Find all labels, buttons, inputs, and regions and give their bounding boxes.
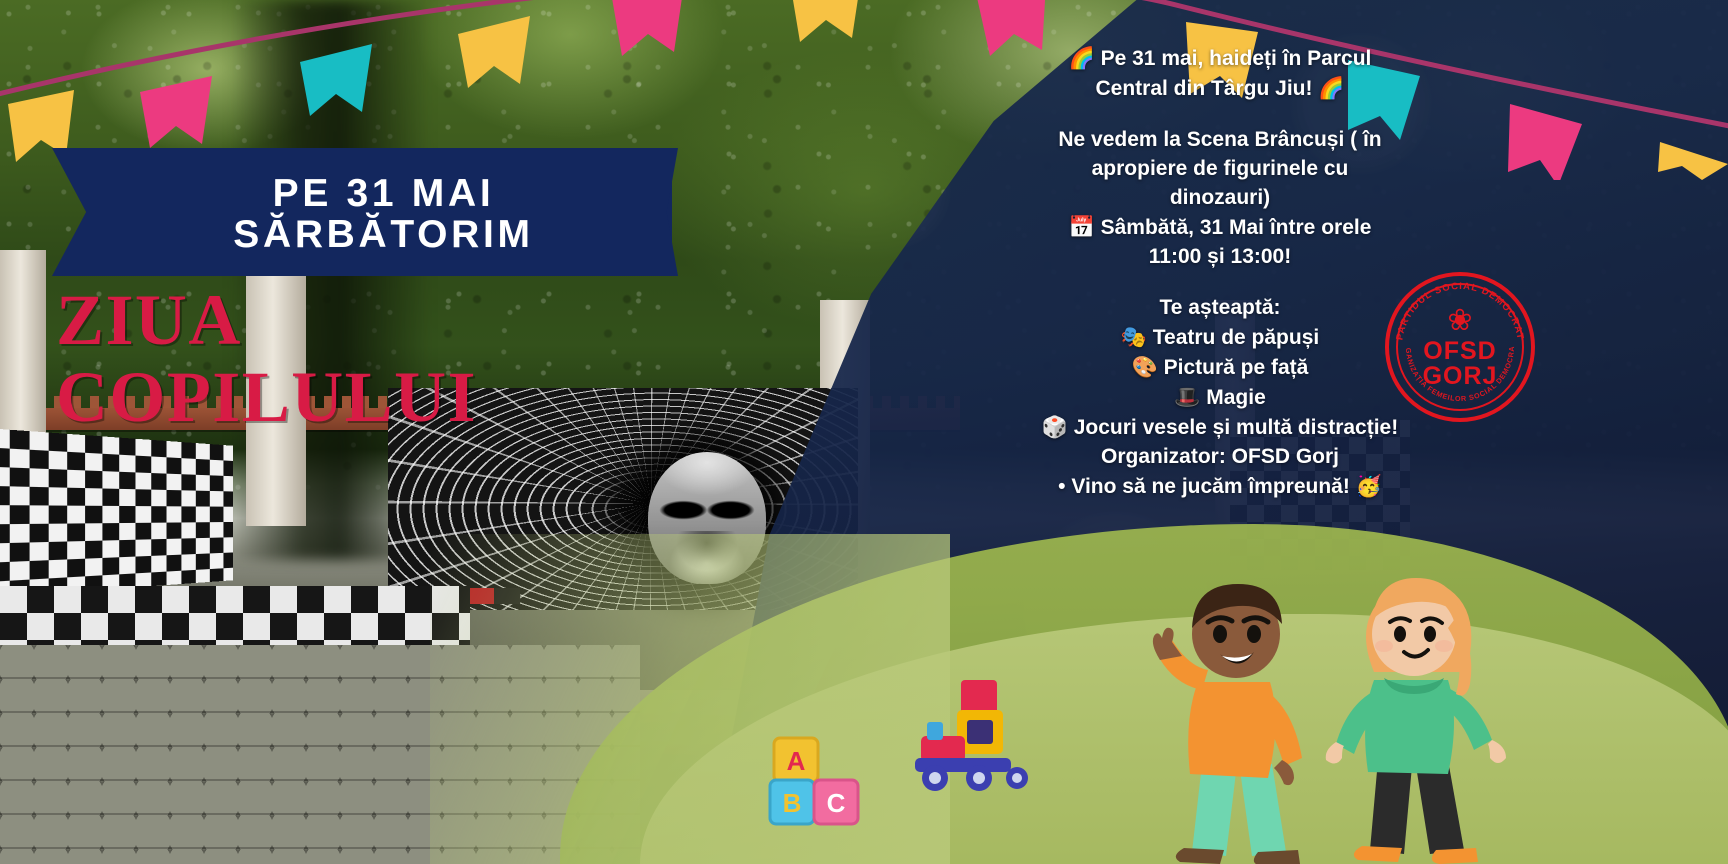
- info-block-activities: Te așteaptă: 🎭 Teatru de păpuși 🎨 Pictur…: [1020, 294, 1420, 502]
- party-face-icon: 🥳: [1356, 474, 1382, 498]
- activity-label: Magie: [1206, 386, 1266, 409]
- event-poster: A B C: [0, 0, 1728, 864]
- activity-label: Jocuri vesele și multă distracție!: [1074, 416, 1398, 439]
- time-line: 11:00 și 13:00!: [1020, 243, 1420, 272]
- theater-masks-icon: 🎭: [1121, 325, 1147, 349]
- toy-train-icon: [905, 674, 1055, 794]
- venue-line-1: Ne vedem la Scena Brâncuși ( în: [1020, 126, 1420, 155]
- child-girl-illustration: [1320, 564, 1530, 864]
- bullet-marker: •: [1058, 475, 1065, 498]
- ribbon-line-2: SĂRBĂTORIM: [233, 214, 533, 255]
- activity-item: 🎲 Jocuri vesele și multă distracție!: [1020, 413, 1420, 443]
- ribbon-line-1: PE 31 MAI: [273, 173, 495, 214]
- info-block-venue: Ne vedem la Scena Brâncuși ( în apropier…: [1020, 126, 1420, 272]
- palette-icon: 🎨: [1132, 355, 1158, 379]
- rainbow-icon: 🌈: [1069, 46, 1095, 70]
- activity-item: 🎨 Pictură pe față: [1020, 353, 1420, 383]
- logo-center: ❀ OFSD GORJ: [1406, 293, 1514, 401]
- rainbow-icon: 🌈: [1318, 76, 1344, 100]
- activity-item: 🎭 Teatru de păpuși: [1020, 323, 1420, 353]
- activity-label: Teatru de păpuși: [1153, 326, 1319, 349]
- logo-name-line-1: OFSD: [1423, 339, 1496, 364]
- date-text: Sâmbătă, 31 Mai între orele: [1101, 216, 1372, 239]
- calendar-icon: 📅: [1069, 215, 1095, 239]
- ribbon-text: PE 31 MAI SĂRBĂTORIM: [96, 158, 671, 270]
- svg-text:C: C: [827, 788, 846, 818]
- info-block-location: 🌈 Pe 31 mai, haideți în Parcul Central d…: [1020, 44, 1420, 104]
- svg-text:B: B: [783, 788, 802, 818]
- headline-line-2: COPILULUI: [56, 359, 696, 436]
- ofsd-gorj-logo: PARTIDUL SOCIAL DEMOCRAT ORGANIZAȚIA FEM…: [1385, 272, 1535, 422]
- dice-icon: 🎲: [1042, 415, 1068, 439]
- abc-blocks-icon: A B C: [768, 736, 878, 826]
- headline-line-1: ZIUA: [56, 282, 696, 359]
- child-boy-illustration: [1140, 564, 1350, 864]
- activities-heading: Te așteaptă:: [1020, 294, 1420, 323]
- logo-name-line-2: GORJ: [1423, 364, 1498, 389]
- closing-text: Vino să ne jucăm împreună!: [1071, 475, 1350, 498]
- checkerboard-panel: [0, 428, 233, 597]
- page-title: ZIUA COPILULUI: [56, 282, 696, 436]
- closing-line: • Vino să ne jucăm împreună! 🥳: [1020, 472, 1420, 502]
- top-hat-icon: 🎩: [1174, 385, 1200, 409]
- date-line: 📅 Sâmbătă, 31 Mai între orele: [1020, 213, 1420, 243]
- location-line-2: Central din Târgu Jiu! 🌈: [1020, 74, 1420, 104]
- organizer-line: Organizator: OFSD Gorj: [1020, 443, 1420, 472]
- location-line-1: 🌈 Pe 31 mai, haideți în Parcul: [1020, 44, 1420, 74]
- venue-line-2: apropiere de figurinele cu: [1020, 155, 1420, 184]
- event-details-column: 🌈 Pe 31 mai, haideți în Parcul Central d…: [1020, 44, 1420, 524]
- activity-item: 🎩 Magie: [1020, 383, 1420, 413]
- location-text-2: Central din Târgu Jiu!: [1095, 77, 1312, 100]
- rose-icon: ❀: [1447, 306, 1472, 336]
- venue-line-3: dinozauri): [1020, 184, 1420, 213]
- activity-label: Pictură pe față: [1164, 356, 1309, 379]
- svg-text:A: A: [787, 746, 806, 776]
- location-text-1: Pe 31 mai, haideți în Parcul: [1101, 47, 1372, 70]
